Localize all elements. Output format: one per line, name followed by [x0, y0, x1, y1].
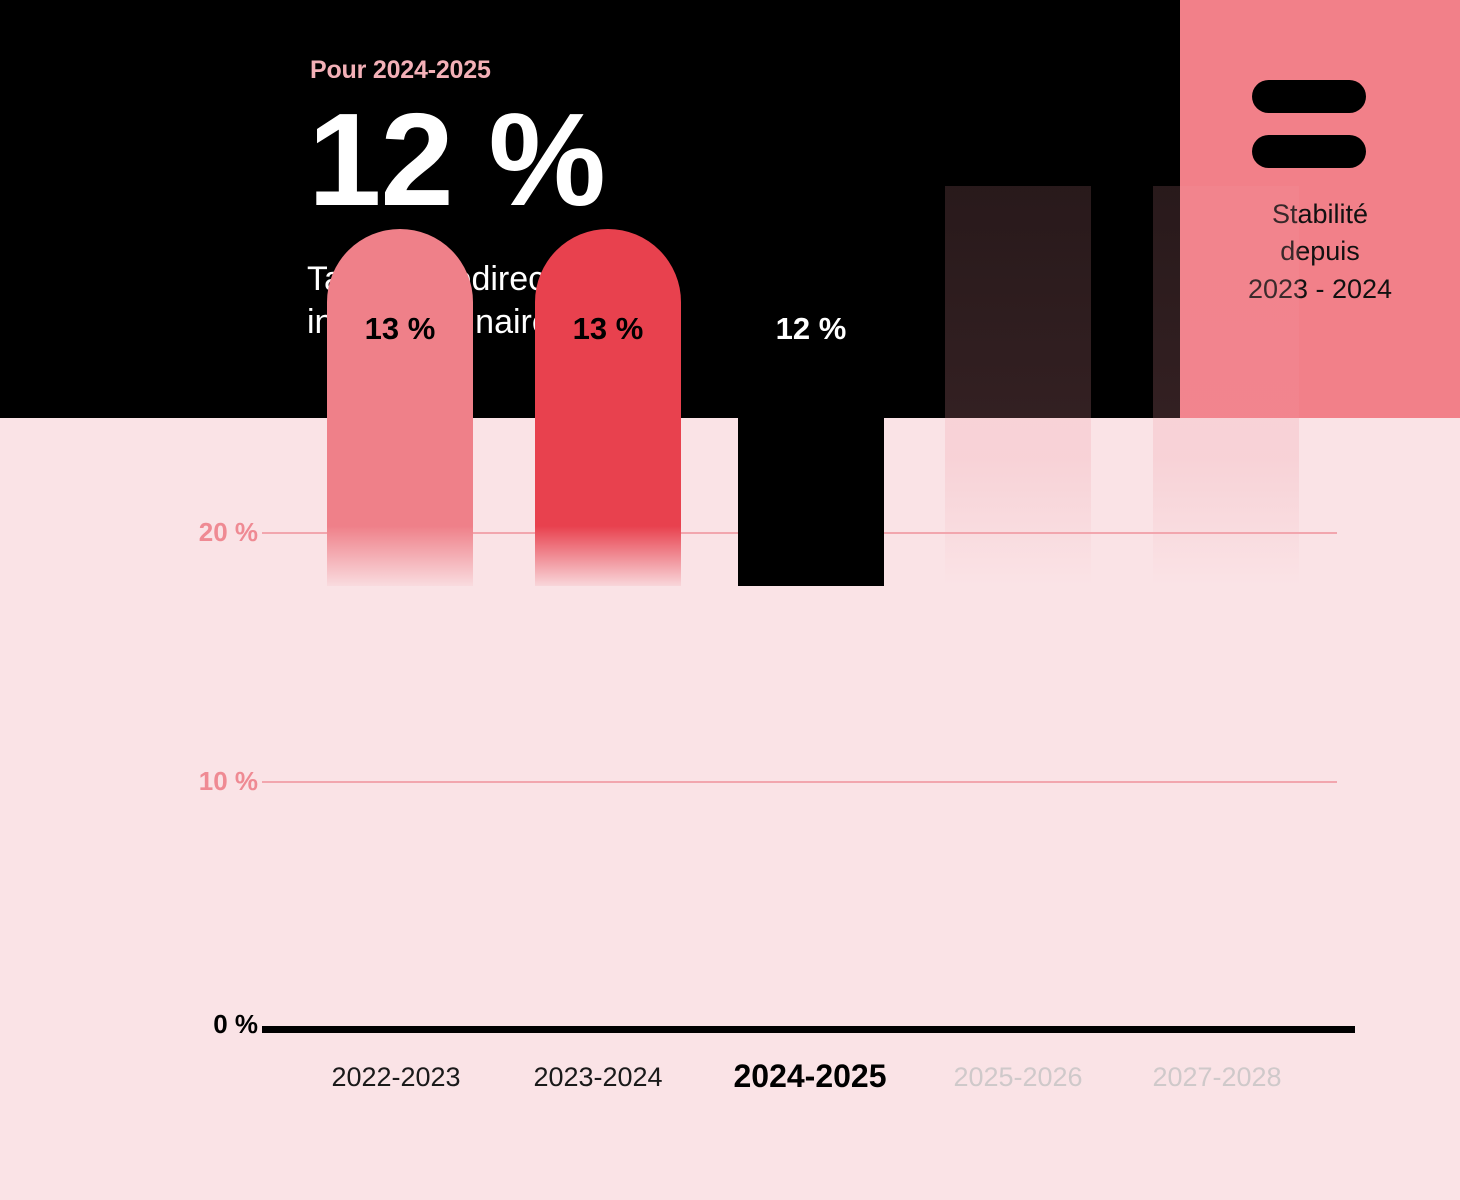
x-label-2023-2024: 2023-2024 — [483, 1062, 713, 1093]
bar-2022-2023[interactable]: 13 % — [327, 229, 473, 586]
placeholder-bar-2027-2028 — [1153, 186, 1299, 586]
placeholder-bar-2025-2026 — [945, 186, 1091, 586]
gridline-10 — [262, 781, 1337, 783]
x-label-2025-2026: 2025-2026 — [903, 1062, 1133, 1093]
x-label-2027-2028: 2027-2028 — [1102, 1062, 1332, 1093]
y-tick-label-0: 0 % — [148, 1009, 258, 1040]
equals-icon-bar-bottom — [1252, 135, 1366, 168]
equals-icon — [1252, 80, 1366, 168]
header-big-value: 12 % — [308, 94, 605, 226]
bar-value-2023-2024: 13 % — [535, 311, 681, 347]
bar-value-2022-2023: 13 % — [327, 311, 473, 347]
x-label-2022-2023: 2022-2023 — [281, 1062, 511, 1093]
bar-2023-2024[interactable]: 13 % — [535, 229, 681, 586]
equals-icon-bar-top — [1252, 80, 1366, 113]
bar-chart: 20 % 10 % 0 % 13 % 13 % 12 % — [0, 418, 1460, 1200]
y-tick-label-20: 20 % — [148, 517, 258, 548]
bar-2024-2025[interactable]: 12 % — [738, 256, 884, 586]
y-tick-label-10: 10 % — [148, 766, 258, 797]
bar-fade-2023-2024 — [535, 526, 681, 586]
header-kicker: Pour 2024-2025 — [310, 56, 491, 85]
bar-value-2024-2025: 12 % — [738, 311, 884, 347]
x-label-2024-2025: 2024-2025 — [695, 1058, 925, 1095]
plot-area: 20 % 10 % 0 % 13 % 13 % 12 % — [0, 418, 1460, 1200]
infographic-root: Pour 2024-2025 12 % Taux de codirection … — [0, 0, 1460, 1200]
bar-fade-2022-2023 — [327, 526, 473, 586]
x-axis-baseline — [262, 1026, 1355, 1033]
